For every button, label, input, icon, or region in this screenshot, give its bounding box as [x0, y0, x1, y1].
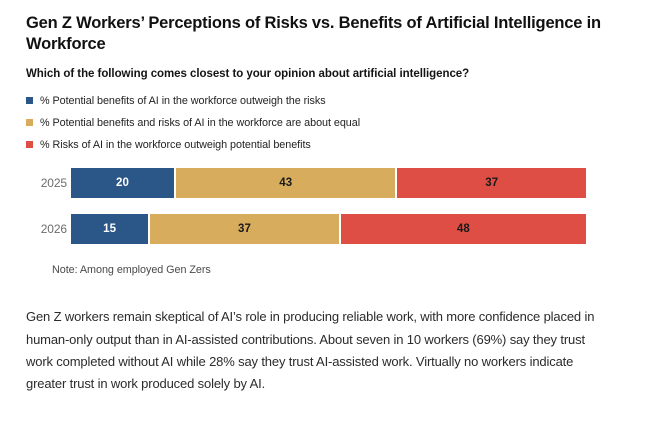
legend-label-risks: % Risks of AI in the workforce outweigh … [40, 139, 311, 151]
bar-segment-2026-risks[interactable]: 48 [339, 214, 586, 244]
bar-row-2026: 2026 15 37 48 [26, 214, 634, 244]
bar-segment-2026-benefits[interactable]: 15 [71, 214, 148, 244]
legend-swatch-benefits [26, 97, 33, 104]
legend-swatch-risks [26, 141, 33, 148]
bar-value-2026-benefits: 15 [103, 223, 116, 235]
bar-segment-2025-equal[interactable]: 43 [174, 168, 395, 198]
legend-label-benefits: % Potential benefits of AI in the workfo… [40, 95, 326, 107]
bar-value-2025-equal: 43 [279, 177, 292, 189]
legend-item-equal: % Potential benefits and risks of AI in … [26, 113, 634, 132]
bar-track-2025: 20 43 37 [71, 168, 586, 198]
body-paragraph: Gen Z workers remain skeptical of AI’s r… [26, 276, 606, 395]
legend-item-risks: % Risks of AI in the workforce outweigh … [26, 135, 634, 154]
bar-row-2025: 2025 20 43 37 [26, 168, 634, 198]
chart-subtitle: Which of the following comes closest to … [26, 55, 634, 80]
bar-year-label-2025: 2025 [26, 176, 71, 190]
chart-note: Note: Among employed Gen Zers [26, 260, 634, 276]
legend-item-benefits: % Potential benefits of AI in the workfo… [26, 91, 634, 110]
bar-value-2026-equal: 37 [238, 223, 251, 235]
bar-value-2025-benefits: 20 [116, 177, 129, 189]
bar-value-2025-risks: 37 [485, 177, 498, 189]
legend-label-equal: % Potential benefits and risks of AI in … [40, 117, 360, 129]
bar-segment-2025-risks[interactable]: 37 [395, 168, 586, 198]
bar-segment-2026-equal[interactable]: 37 [148, 214, 339, 244]
legend-swatch-equal [26, 119, 33, 126]
bar-track-2026: 15 37 48 [71, 214, 586, 244]
bar-year-label-2026: 2026 [26, 222, 71, 236]
bar-value-2026-risks: 48 [457, 223, 470, 235]
bar-segment-2025-benefits[interactable]: 20 [71, 168, 174, 198]
infographic-page: Gen Z Workers’ Perceptions of Risks vs. … [0, 0, 660, 425]
chart-legend: % Potential benefits of AI in the workfo… [26, 80, 634, 154]
stacked-bar-chart: 2025 20 43 37 2026 15 37 [26, 168, 634, 244]
page-title: Gen Z Workers’ Perceptions of Risks vs. … [26, 0, 626, 55]
